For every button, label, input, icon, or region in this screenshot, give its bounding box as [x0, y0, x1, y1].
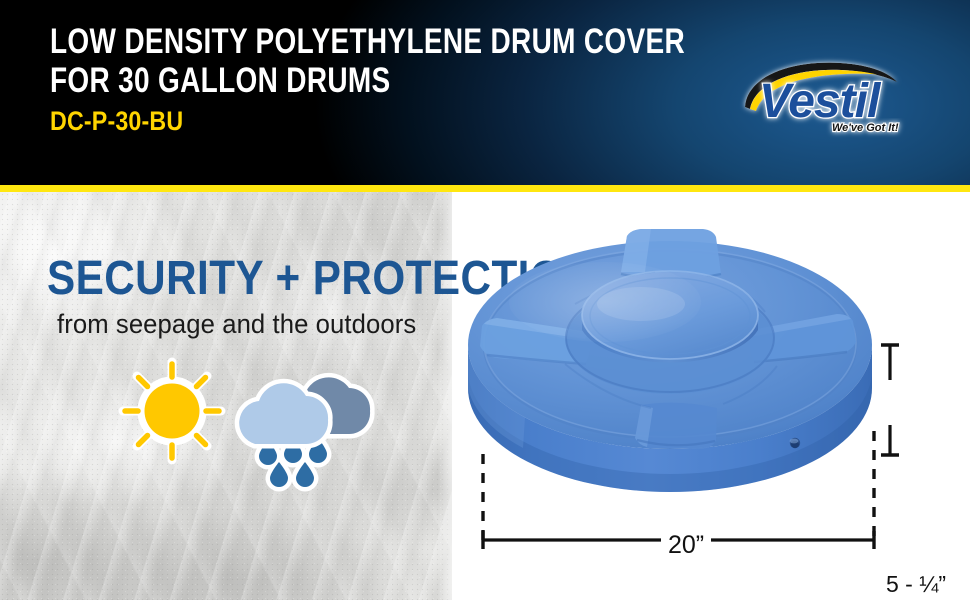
- header-title-block: LOW DENSITY POLYETHYLENE DRUM COVER FOR …: [50, 22, 710, 137]
- svg-text:Vestil: Vestil: [759, 75, 882, 128]
- main-subheadline: from seepage and the outdoors: [57, 308, 416, 340]
- model-number: DC-P-30-BU: [50, 105, 618, 137]
- logo-wordmark: Vestil: [759, 75, 882, 128]
- logo-tagline: We've Got It!: [832, 122, 899, 134]
- product-title-line-2: FOR 30 GALLON DRUMS: [50, 61, 578, 100]
- width-dimension-label: 20”: [661, 531, 711, 560]
- header-banner: LOW DENSITY POLYETHYLENE DRUM COVER FOR …: [0, 0, 970, 185]
- content-area: SECURITY + PROTECTION from seepage and t…: [0, 192, 970, 600]
- product-title-line-1: LOW DENSITY POLYETHYLENE DRUM COVER: [50, 22, 578, 61]
- product-image-drum-cover: [455, 212, 885, 552]
- sun-icon: [116, 355, 228, 467]
- vestil-logo: Vestil We've Got It!: [737, 55, 917, 140]
- header-accent-stripe: [0, 185, 970, 192]
- height-dimension-label: 5 - ¼”: [886, 571, 946, 598]
- rain-cloud-icon: [231, 364, 379, 492]
- svg-text:We've Got It!: We've Got It!: [832, 122, 899, 134]
